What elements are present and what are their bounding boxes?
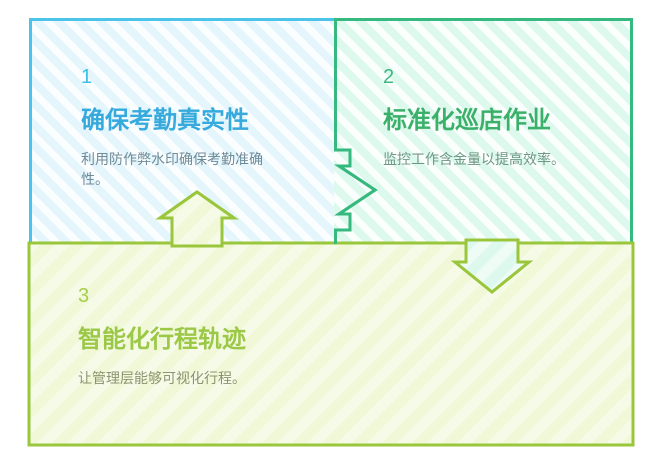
panel-1-heading: 确保考勤真实性 [81, 107, 383, 135]
panel-3-smart-route[interactable]: 3 智能化行程轨迹 让管理层能够可视化行程。 [29, 244, 633, 445]
panel-3-body: 让管理层能够可视化行程。 [78, 368, 498, 388]
panel-3-number: 3 [78, 286, 661, 306]
panel-1-number: 1 [81, 67, 383, 87]
panel-2-number: 2 [383, 67, 661, 87]
panel-2-heading: 标准化巡店作业 [383, 107, 661, 135]
panel-3-heading: 智能化行程轨迹 [78, 326, 661, 354]
panel-1-body: 利用防作弊水印确保考勤准确性。 [81, 149, 286, 190]
panel-2-body: 监控工作含金量以提高效率。 [383, 149, 588, 169]
panel-1-attendance[interactable]: 1 确保考勤真实性 利用防作弊水印确保考勤准确性。 [29, 18, 334, 244]
diagram-canvas: 1 确保考勤真实性 利用防作弊水印确保考勤准确性。 2 标准化巡店作业 监控工作… [0, 0, 661, 465]
